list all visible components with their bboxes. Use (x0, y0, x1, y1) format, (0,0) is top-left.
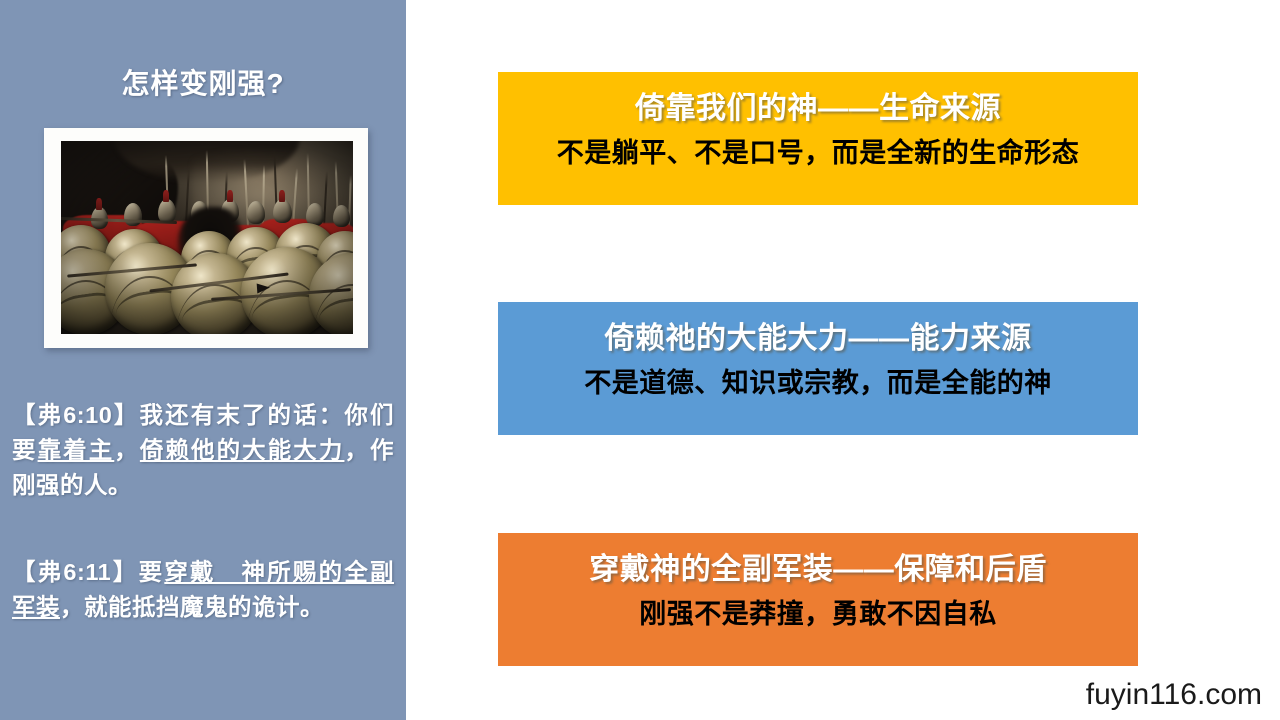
panel-heading: 倚靠我们的神——生命来源 (498, 86, 1138, 132)
scripture-text-after: ，就能抵挡魔鬼的诡计。 (60, 594, 324, 620)
helmet (247, 201, 265, 224)
scripture-ref: 【弗6:11】 (12, 559, 139, 585)
page-title: 怎样变刚强? (0, 62, 406, 102)
spartan-phalanx-image (61, 141, 353, 334)
helmet-crest (279, 190, 285, 202)
scripture-ref: 【弗6:10】 (12, 402, 139, 428)
helmet (333, 205, 350, 227)
photo-frame (44, 128, 368, 348)
helmet-crest (163, 190, 169, 202)
panel-subtitle: 不是道德、知识或宗教，而是全能的神 (498, 362, 1138, 404)
content-panel-power-source: 倚赖祂的大能大力——能力来源 不是道德、知识或宗教，而是全能的神 (498, 302, 1138, 435)
arrowhead (257, 283, 271, 294)
scripture-underline-2: 倚赖他的大能大力 (140, 437, 345, 463)
sidebar-panel: 怎样变刚强? (0, 0, 406, 720)
helmet-crest (96, 198, 102, 210)
panel-heading: 穿戴神的全副军装——保障和后盾 (498, 547, 1138, 593)
scripture-eph-6-11: 【弗6:11】要穿戴 神所赐的全副军装，就能抵挡魔鬼的诡计。 (12, 555, 394, 625)
helmet (124, 203, 142, 226)
panel-subtitle: 刚强不是莽撞，勇敢不因自私 (498, 593, 1138, 635)
presentation-slide: 怎样变刚强? (0, 0, 1280, 720)
helmet-crest (227, 190, 233, 202)
content-panel-life-source: 倚靠我们的神——生命来源 不是躺平、不是口号，而是全新的生命形态 (498, 72, 1138, 205)
scripture-text-before: 要 (139, 559, 165, 585)
panel-subtitle: 不是躺平、不是口号，而是全新的生命形态 (498, 132, 1138, 174)
panel-heading: 倚赖祂的大能大力——能力来源 (498, 316, 1138, 362)
content-panel-armor-shield: 穿戴神的全副军装——保障和后盾 刚强不是莽撞，勇敢不因自私 (498, 533, 1138, 666)
scripture-eph-6-10: 【弗6:10】我还有末了的话：你们要靠着主，倚赖他的大能大力，作刚强的人。 (12, 398, 394, 503)
scripture-underline-1: 靠着主 (38, 437, 115, 463)
site-watermark: fuyin116.com (1086, 678, 1262, 712)
helmet (273, 199, 292, 223)
helmet (158, 199, 176, 223)
scripture-mid: ， (114, 437, 140, 463)
